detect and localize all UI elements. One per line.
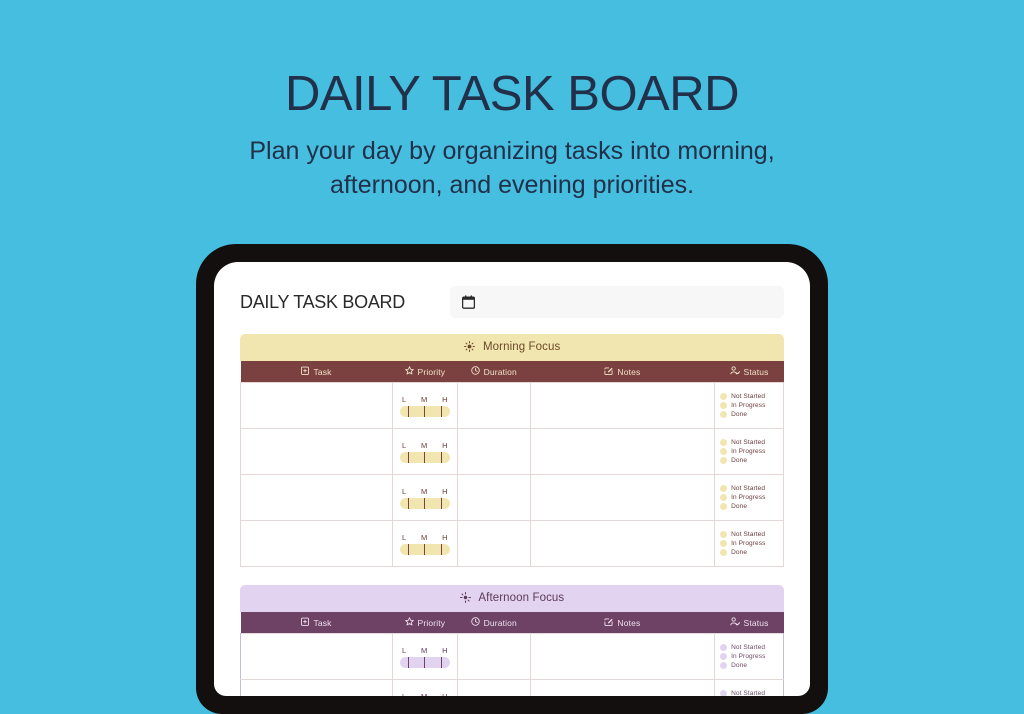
clock-icon	[471, 366, 480, 377]
status-option-label: In Progress	[731, 448, 765, 455]
status-option-label: Done	[731, 503, 747, 510]
status-option-label: Not Started	[731, 485, 765, 492]
cell-notes[interactable]	[530, 475, 714, 521]
priority-slider[interactable]: L M H	[393, 487, 457, 509]
cell-duration[interactable]	[457, 680, 530, 697]
priority-label-high: H	[442, 395, 448, 404]
table-row: L M H	[241, 429, 784, 475]
status-option-not-started[interactable]: Not Started	[720, 531, 783, 538]
status-option-label: In Progress	[731, 402, 765, 409]
cell-status[interactable]: Not Started In Progress Done	[715, 383, 784, 429]
status-option-done[interactable]: Done	[720, 549, 783, 556]
column-header-notes[interactable]: Notes	[530, 612, 714, 634]
clock-icon	[471, 617, 480, 628]
sun-rays-icon	[460, 592, 471, 606]
clipboard-icon	[301, 366, 309, 377]
cell-duration[interactable]	[457, 521, 530, 567]
status-option-not-started[interactable]: Not Started	[720, 644, 783, 651]
person-check-icon	[730, 366, 740, 377]
status-option-label: Done	[731, 457, 747, 464]
pencil-square-icon	[604, 366, 613, 377]
priority-label-med: M	[421, 487, 427, 496]
cell-notes[interactable]	[530, 634, 714, 680]
table-header-morning: Task Priority	[241, 361, 784, 383]
cell-duration[interactable]	[457, 383, 530, 429]
cell-status[interactable]: Not Started In Progress Done	[715, 680, 784, 697]
priority-tick-med	[424, 657, 425, 668]
column-header-task[interactable]: Task	[241, 361, 393, 383]
column-header-duration-label: Duration	[484, 367, 517, 377]
section-band-morning: Morning Focus	[240, 334, 784, 361]
status-option-done[interactable]: Done	[720, 457, 783, 464]
column-header-notes-label: Notes	[617, 618, 640, 628]
star-icon	[405, 366, 414, 377]
priority-label-high: H	[442, 533, 448, 542]
column-header-status-label: Status	[744, 367, 769, 377]
priority-tick-low	[408, 544, 409, 555]
column-header-status[interactable]: Status	[715, 361, 784, 383]
tablet-device-frame: DAILY TASK BOARD	[196, 244, 828, 714]
status-option-in-progress[interactable]: In Progress	[720, 448, 783, 455]
status-option-label: Done	[731, 411, 747, 418]
status-option-not-started[interactable]: Not Started	[720, 393, 783, 400]
priority-slider-track[interactable]	[400, 657, 450, 668]
cell-task[interactable]	[241, 634, 393, 680]
column-header-priority[interactable]: Priority	[392, 361, 457, 383]
cell-status[interactable]: Not Started In Progress Done	[715, 521, 784, 567]
task-table-morning: Task Priority	[240, 361, 784, 567]
priority-label-med: M	[421, 395, 427, 404]
priority-slider[interactable]: L M H	[393, 395, 457, 417]
task-table-afternoon: Task Priority	[240, 612, 784, 696]
table-row: L M H	[241, 680, 784, 697]
status-radio-dot[interactable]	[720, 653, 727, 660]
status-option-done[interactable]: Done	[720, 503, 783, 510]
table-body-morning: L M H	[241, 383, 784, 567]
app-header: DAILY TASK BOARD	[214, 262, 810, 326]
status-option-in-progress[interactable]: In Progress	[720, 402, 783, 409]
table-header-afternoon: Task Priority	[241, 612, 784, 634]
table-row: L M H	[241, 521, 784, 567]
priority-slider-track[interactable]	[400, 452, 450, 463]
priority-tick-med	[424, 498, 425, 509]
pencil-square-icon	[604, 617, 613, 628]
column-header-priority-label: Priority	[418, 618, 446, 628]
column-header-status[interactable]: Status	[715, 612, 784, 634]
status-option-in-progress[interactable]: In Progress	[720, 653, 783, 660]
table-row: L M H	[241, 475, 784, 521]
priority-label-med: M	[421, 533, 427, 542]
person-check-icon	[730, 617, 740, 628]
status-option-done[interactable]: Done	[720, 411, 783, 418]
cell-priority[interactable]: L M H	[392, 521, 457, 567]
status-radio-dot[interactable]	[720, 540, 727, 547]
status-radio-dot[interactable]	[720, 448, 727, 455]
priority-label-high: H	[442, 487, 448, 496]
priority-label-med: M	[421, 692, 427, 697]
cell-notes[interactable]	[530, 383, 714, 429]
cell-status[interactable]: Not Started In Progress Done	[715, 475, 784, 521]
status-option-not-started[interactable]: Not Started	[720, 485, 783, 492]
priority-tick-low	[408, 406, 409, 417]
priority-slider[interactable]: L M H	[393, 646, 457, 668]
status-radio-group[interactable]: Not Started In Progress Done	[715, 482, 783, 513]
status-radio-dot[interactable]	[720, 531, 727, 538]
status-option-in-progress[interactable]: In Progress	[720, 494, 783, 501]
cell-task[interactable]	[241, 680, 393, 697]
column-header-task-label: Task	[313, 618, 331, 628]
status-radio-group[interactable]: Not Started In Progress Done	[715, 528, 783, 559]
status-radio-dot[interactable]	[720, 485, 727, 492]
status-radio-dot[interactable]	[720, 644, 727, 651]
status-option-done[interactable]: Done	[720, 662, 783, 669]
table-body-afternoon: L M H	[241, 634, 784, 697]
priority-label-high: H	[442, 441, 448, 450]
priority-tick-med	[424, 406, 425, 417]
status-radio-dot[interactable]	[720, 662, 727, 669]
priority-tick-high	[441, 657, 442, 668]
status-option-label: Not Started	[731, 690, 765, 696]
cell-status[interactable]: Not Started In Progress Done	[715, 429, 784, 475]
table-row: L M H	[241, 634, 784, 680]
clipboard-icon	[301, 617, 309, 628]
priority-label-low: L	[402, 487, 406, 496]
section-band-label-morning: Morning Focus	[483, 341, 560, 353]
poster-subtitle: Plan your day by organizing tasks into m…	[0, 135, 1024, 203]
status-radio-group[interactable]: Not Started In Progress Done	[715, 390, 783, 421]
priority-tick-low	[408, 498, 409, 509]
status-option-label: Done	[731, 662, 747, 669]
status-option-label: Not Started	[731, 531, 765, 538]
status-radio-dot[interactable]	[720, 690, 727, 696]
priority-label-low: L	[402, 646, 406, 655]
status-radio-dot[interactable]	[720, 411, 727, 418]
priority-slider-track[interactable]	[400, 498, 450, 509]
priority-slider[interactable]: L M H	[393, 692, 457, 697]
priority-tick-high	[441, 406, 442, 417]
status-option-in-progress[interactable]: In Progress	[720, 540, 783, 547]
priority-label-med: M	[421, 646, 427, 655]
status-radio-group[interactable]: Not Started In Progress Done	[715, 436, 783, 467]
status-radio-group[interactable]: Not Started In Progress Done	[715, 641, 783, 672]
status-option-label: In Progress	[731, 653, 765, 660]
status-radio-group[interactable]: Not Started In Progress Done	[715, 687, 783, 696]
tablet-screen: DAILY TASK BOARD	[214, 262, 810, 696]
cell-duration[interactable]	[457, 429, 530, 475]
cell-notes[interactable]	[530, 680, 714, 697]
calendar-icon	[462, 295, 475, 309]
column-header-duration-label: Duration	[484, 618, 517, 628]
date-input[interactable]	[450, 286, 784, 318]
priority-label-low: L	[402, 395, 406, 404]
priority-label-med: M	[421, 441, 427, 450]
status-radio-dot[interactable]	[720, 494, 727, 501]
cell-task[interactable]	[241, 521, 393, 567]
poster-title: DAILY TASK BOARD	[0, 68, 1024, 121]
cell-priority[interactable]: L M H	[392, 475, 457, 521]
status-radio-dot[interactable]	[720, 439, 727, 446]
cell-task[interactable]	[241, 383, 393, 429]
column-header-notes[interactable]: Notes	[530, 361, 714, 383]
status-radio-dot[interactable]	[720, 549, 727, 556]
cell-priority[interactable]: L M H	[392, 680, 457, 697]
star-icon	[405, 617, 414, 628]
status-option-not-started[interactable]: Not Started	[720, 690, 783, 696]
column-header-notes-label: Notes	[617, 367, 640, 377]
cell-notes[interactable]	[530, 521, 714, 567]
cell-priority[interactable]: L M H	[392, 383, 457, 429]
status-option-not-started[interactable]: Not Started	[720, 439, 783, 446]
priority-tick-med	[424, 452, 425, 463]
priority-slider-track[interactable]	[400, 544, 450, 555]
section-band-label-afternoon: Afternoon Focus	[478, 592, 564, 604]
sun-icon	[464, 341, 475, 355]
priority-tick-high	[441, 498, 442, 509]
poster-header: DAILY TASK BOARD Plan your day by organi…	[0, 0, 1024, 202]
priority-slider[interactable]: L M H	[393, 441, 457, 463]
column-header-priority-label: Priority	[418, 367, 446, 377]
cell-priority[interactable]: L M H	[392, 634, 457, 680]
section-band-afternoon: Afternoon Focus	[240, 585, 784, 612]
cell-status[interactable]: Not Started In Progress Done	[715, 634, 784, 680]
section-morning: Morning Focus Task	[240, 334, 784, 567]
priority-tick-high	[441, 544, 442, 555]
column-header-task[interactable]: Task	[241, 612, 393, 634]
status-option-label: In Progress	[731, 540, 765, 547]
priority-label-high: H	[442, 692, 448, 697]
status-option-label: Done	[731, 549, 747, 556]
section-afternoon: Afternoon Focus Task	[240, 585, 784, 696]
priority-label-low: L	[402, 441, 406, 450]
priority-tick-low	[408, 657, 409, 668]
cell-duration[interactable]	[457, 634, 530, 680]
priority-label-low: L	[402, 533, 406, 542]
cell-task[interactable]	[241, 475, 393, 521]
column-header-duration[interactable]: Duration	[457, 612, 530, 634]
column-header-priority[interactable]: Priority	[392, 612, 457, 634]
priority-label-low: L	[402, 692, 406, 697]
column-header-status-label: Status	[744, 618, 769, 628]
priority-slider-track[interactable]	[400, 406, 450, 417]
table-row: L M H	[241, 383, 784, 429]
cell-notes[interactable]	[530, 429, 714, 475]
status-radio-dot[interactable]	[720, 393, 727, 400]
column-header-duration[interactable]: Duration	[457, 361, 530, 383]
priority-tick-med	[424, 544, 425, 555]
cell-duration[interactable]	[457, 475, 530, 521]
status-radio-dot[interactable]	[720, 457, 727, 464]
app-title: DAILY TASK BOARD	[240, 292, 405, 313]
column-header-task-label: Task	[313, 367, 331, 377]
priority-tick-high	[441, 452, 442, 463]
status-option-label: In Progress	[731, 494, 765, 501]
status-radio-dot[interactable]	[720, 402, 727, 409]
cell-task[interactable]	[241, 429, 393, 475]
priority-slider[interactable]: L M H	[393, 533, 457, 555]
priority-label-high: H	[442, 646, 448, 655]
status-option-label: Not Started	[731, 644, 765, 651]
status-radio-dot[interactable]	[720, 503, 727, 510]
status-option-label: Not Started	[731, 439, 765, 446]
status-option-label: Not Started	[731, 393, 765, 400]
cell-priority[interactable]: L M H	[392, 429, 457, 475]
priority-tick-low	[408, 452, 409, 463]
